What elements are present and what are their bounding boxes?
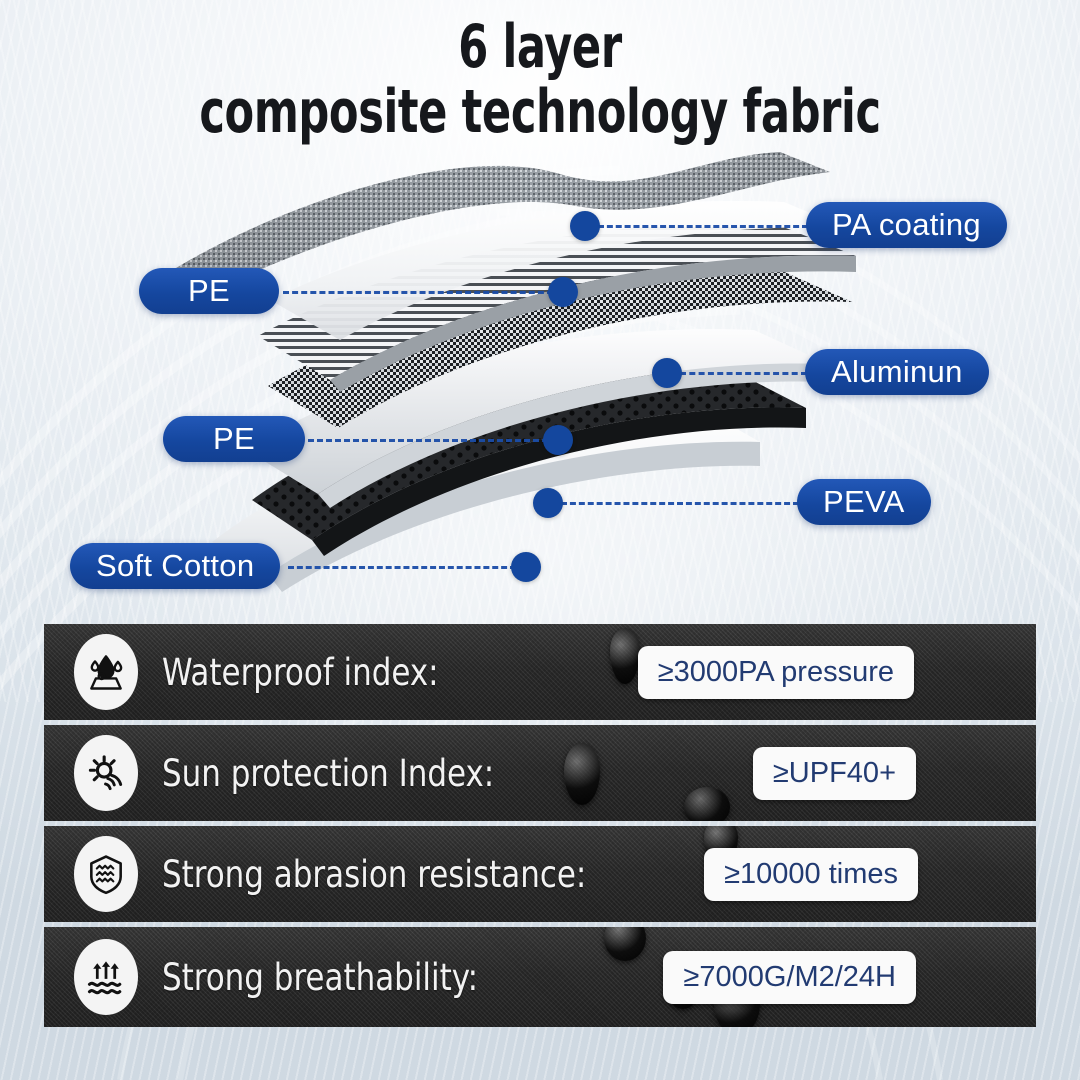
shield-zigzag-icon <box>74 836 138 912</box>
leader-line-pa-coating <box>598 225 808 228</box>
sun-rays-icon <box>74 735 138 811</box>
infographic-canvas: 6 layer composite technology fabric <box>0 0 1080 1080</box>
spec-value: ≥UPF40+ <box>753 747 916 800</box>
water-drop-repellent-icon <box>74 634 138 710</box>
spec-label: Waterproof index: <box>162 651 439 694</box>
callout-peva[interactable]: PEVA <box>797 479 931 525</box>
callout-label: Aluminun <box>831 354 963 390</box>
callout-label: PEVA <box>823 484 905 520</box>
spec-row: Waterproof index: ≥3000PA pressure <box>44 624 1036 720</box>
leader-line-pe-lower <box>308 439 548 442</box>
title-line-2: composite technology fabric <box>108 80 972 144</box>
leader-line-peva <box>561 502 799 505</box>
spec-row: Sun protection Index: ≥UPF40+ <box>44 725 1036 821</box>
callout-label: PE <box>188 273 230 309</box>
connector-dot-pe-lower <box>543 425 573 455</box>
callout-label: Soft Cotton <box>96 548 254 584</box>
water-droplet-decor <box>684 787 730 821</box>
connector-dot-soft-cotton <box>511 552 541 582</box>
title-line-1: 6 layer <box>108 16 972 78</box>
callout-pe-lower[interactable]: PE <box>163 416 305 462</box>
connector-dot-aluminun <box>652 358 682 388</box>
spec-row: Strong abrasion resistance: ≥10000 times <box>44 826 1036 922</box>
spec-row: Strong breathability: ≥7000G/M2/24H <box>44 927 1036 1027</box>
callout-label: PA coating <box>832 207 981 243</box>
connector-dot-pe-upper <box>548 277 578 307</box>
leader-line-pe-upper <box>283 291 553 294</box>
page-title: 6 layer composite technology fabric <box>0 16 1080 144</box>
spec-label: Strong breathability: <box>162 956 478 999</box>
spec-label: Sun protection Index: <box>162 752 494 795</box>
callout-soft-cotton[interactable]: Soft Cotton <box>70 543 280 589</box>
spec-list: Waterproof index: ≥3000PA pressure <box>44 624 1036 1027</box>
callout-label: PE <box>213 421 255 457</box>
connector-dot-peva <box>533 488 563 518</box>
connector-dot-pa-coating <box>570 211 600 241</box>
spec-label: Strong abrasion resistance: <box>162 853 586 896</box>
arrows-waves-breathable-icon <box>74 939 138 1015</box>
callout-pe-upper[interactable]: PE <box>139 268 279 314</box>
callout-aluminun[interactable]: Aluminun <box>805 349 989 395</box>
leader-line-aluminun <box>680 372 807 375</box>
spec-value: ≥3000PA pressure <box>638 646 914 699</box>
leader-line-soft-cotton <box>288 566 516 569</box>
spec-value: ≥10000 times <box>704 848 918 901</box>
callout-pa-coating[interactable]: PA coating <box>806 202 1007 248</box>
spec-value: ≥7000G/M2/24H <box>663 951 916 1004</box>
